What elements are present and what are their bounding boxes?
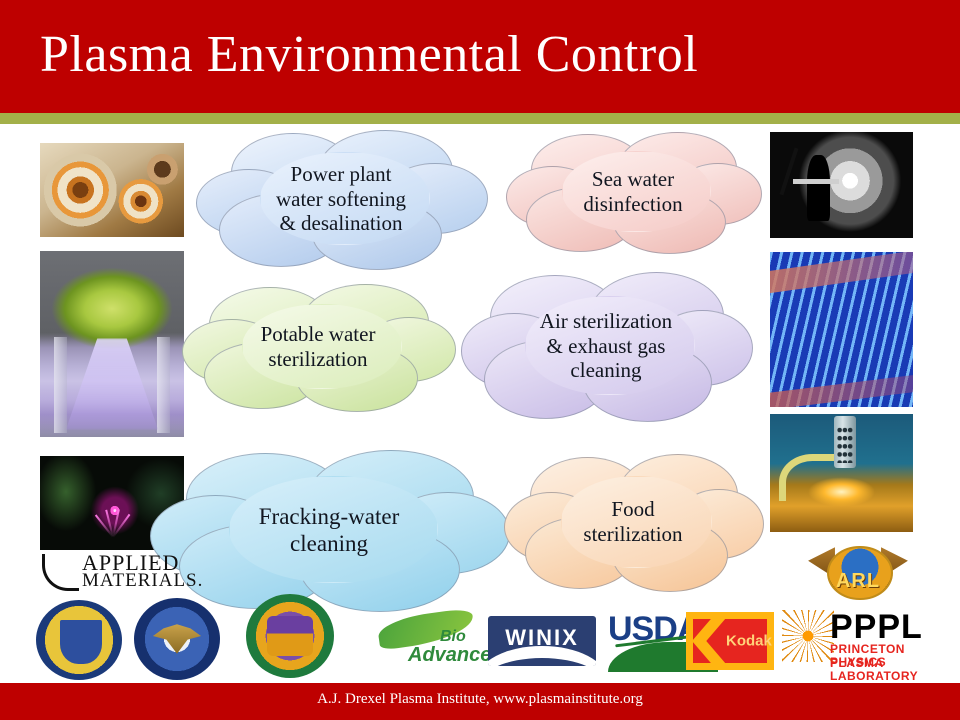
callout-power-plant-water-softening[interactable]: Power plant water softening & desalinati… [196,130,486,268]
underwater-arc-photo [770,132,913,238]
callout-text: Food sterilization [573,497,692,547]
callout-text: Air sterilization & exhaust gas cleaning [530,309,682,383]
footer-credit: A.J. Drexel Plasma Institute, www.plasma… [0,691,960,708]
scaled-pipes-image [40,143,184,237]
callout-sea-water-disinfection[interactable]: Sea water disinfection [506,132,760,252]
logo-applied-materials: APPLIED MATERIALS. [42,550,232,596]
callout-food-sterilization[interactable]: Food sterilization [504,454,762,590]
doe-emblem-icon [267,616,313,656]
uv-lamp-array-photo [770,252,913,407]
logo-pppl: PPPL PRINCETON PLASMA PHYSICS LABORATORY [782,608,954,672]
torch-nozzle-holes [837,426,853,463]
header-divider [0,113,960,124]
callout-air-sterilization-exhaust-gas[interactable]: Air sterilization & exhaust gas cleaning [461,272,751,420]
logo-department-of-energy [246,594,334,678]
scaled-pipes-photo [40,143,184,237]
torch-nozzle [834,416,855,468]
jet-rail-left [54,337,67,434]
callout-text: Potable water sterilization [251,322,386,372]
applied-materials-icon [42,554,76,588]
callout-text: Sea water disinfection [573,167,692,217]
underwater-arc-image [770,132,913,238]
pppl-line2: PHYSICS LABORATORY [830,655,954,683]
arl-wordmark: ARL [810,570,906,593]
logo-department-of-defense [134,598,220,680]
nrl-shield-icon [58,618,103,667]
apple-plasma-jet-photo [40,251,184,437]
callout-text: Power plant water softening & desalinati… [266,162,416,236]
plasma-torch-photo [770,414,913,532]
logo-kodak: Kodak [686,612,774,670]
callout-potable-water-sterilization[interactable]: Potable water sterilization [182,284,454,410]
arc-rod [793,179,839,184]
logo-arl: ARL [810,536,906,606]
callout-text: Fracking-water cleaning [249,503,410,557]
winix-box: WINIX [488,616,596,666]
applied-materials-line2: MATERIALS. [82,570,203,592]
page-title: Plasma Environmental Control [40,24,698,86]
jet-rail-right [157,337,170,434]
pppl-starburst-icon [782,610,834,662]
arc-silhouette [807,155,830,221]
slide-body: Power plant water softening & desalinati… [0,124,960,683]
kodak-wordmark: Kodak [726,633,770,650]
logo-naval-research-laboratory [36,600,122,680]
logo-winix: WINIX [488,616,596,666]
bioadvance-line2: Advance [408,644,491,667]
